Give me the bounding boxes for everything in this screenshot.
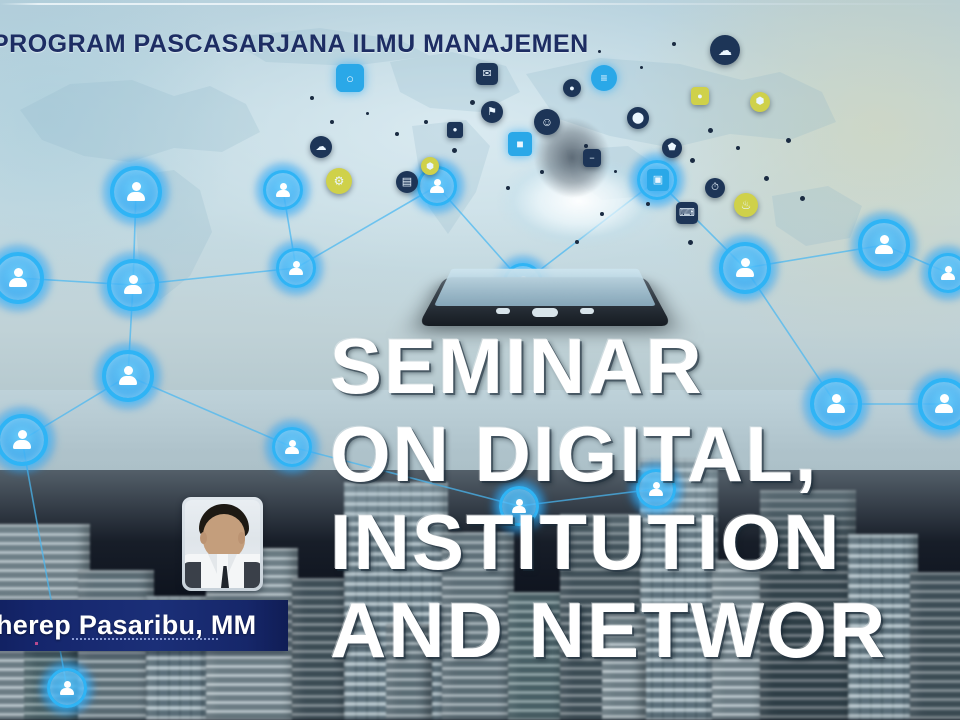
slide-stage: ○☁▤⬢⚙✉⚑■☺●−≡⬤⬟▣⌨⏱♨☁⬢●● PROGRAM PASCASARJ… xyxy=(0,0,960,720)
document-icon: ▤ xyxy=(396,171,418,193)
title-line-2: ON DIGITAL, xyxy=(330,410,960,498)
keyboard-icon: ⌨ xyxy=(676,202,698,224)
floating-speck xyxy=(736,146,740,150)
tablet-buttons xyxy=(418,308,672,318)
name-underline xyxy=(72,638,220,640)
user-node-icon xyxy=(0,252,44,304)
name-marker-dot xyxy=(35,642,38,645)
floating-speck xyxy=(688,240,693,245)
speaker-name-banner: herep Pasaribu, MM xyxy=(0,600,288,651)
cloud-large-icon: ☁ xyxy=(710,35,740,65)
cloud-icon: ☁ xyxy=(310,136,332,158)
user-node-icon xyxy=(858,219,910,271)
floating-speck xyxy=(584,144,588,148)
seminar-title: SEMINAR ON DIGITAL, INSTITUTION AND NETW… xyxy=(330,322,960,674)
program-header: PROGRAM PASCASARJANA ILMU MANAJEMEN xyxy=(0,30,589,59)
floating-speck xyxy=(690,158,695,163)
floating-speck xyxy=(646,202,650,206)
dot-icon: ● xyxy=(563,79,581,97)
avatar-photo xyxy=(185,500,260,588)
user-node-icon xyxy=(719,242,771,294)
user-node-icon xyxy=(272,427,312,467)
hex-badge-icon: ⬢ xyxy=(421,157,439,175)
floating-speck xyxy=(672,42,676,46)
floating-speck xyxy=(366,112,369,115)
circle-outline-icon: ○ xyxy=(336,64,364,92)
floating-speck xyxy=(764,176,769,181)
user-node-icon xyxy=(47,668,87,708)
clock-icon: ⏱ xyxy=(705,178,725,198)
tablet-device xyxy=(418,226,672,326)
title-line-3: INSTITUTION xyxy=(330,498,960,586)
floating-speck xyxy=(540,170,544,174)
floating-speck xyxy=(470,100,475,105)
hex-icon: ⬟ xyxy=(662,138,682,158)
user-node-icon xyxy=(0,414,48,466)
floating-speck xyxy=(708,128,713,133)
minus-icon: − xyxy=(583,149,601,167)
dot-yellow-icon: ● xyxy=(691,87,709,105)
circle-icon: ⬤ xyxy=(627,107,649,129)
panel-icon: ▣ xyxy=(647,169,669,191)
floating-speck xyxy=(598,50,601,53)
title-line-1: SEMINAR xyxy=(330,322,960,410)
floating-speck xyxy=(452,148,457,153)
user-badge-icon: ☺ xyxy=(534,109,560,135)
square-tile-icon: ■ xyxy=(508,132,532,156)
gear-icon: ⚙ xyxy=(326,168,352,194)
floating-speck xyxy=(640,66,643,69)
floating-speck xyxy=(600,212,604,216)
user-node-icon xyxy=(110,166,162,218)
user-node-icon xyxy=(263,170,303,210)
hex-small-icon: ⬢ xyxy=(750,92,770,112)
user-node-icon xyxy=(102,350,154,402)
dot-navy-icon: ● xyxy=(447,122,463,138)
user-node-icon xyxy=(276,248,316,288)
bulb-icon: ♨ xyxy=(734,193,758,217)
floating-speck xyxy=(800,196,805,201)
list-icon: ≡ xyxy=(591,65,617,91)
speaker-name-text: herep Pasaribu, MM xyxy=(0,610,256,641)
slide-top-edge xyxy=(0,3,960,5)
floating-speck xyxy=(424,120,428,124)
user-node-icon xyxy=(107,259,159,311)
floating-speck xyxy=(506,186,510,190)
floating-speck xyxy=(310,96,314,100)
flag-icon: ⚑ xyxy=(481,101,503,123)
mail-icon: ✉ xyxy=(476,63,498,85)
floating-speck xyxy=(395,132,399,136)
floating-speck xyxy=(614,170,617,173)
title-line-4: AND NETWOR xyxy=(330,586,960,674)
user-node-icon xyxy=(928,253,960,293)
floating-speck xyxy=(786,138,791,143)
speaker-avatar xyxy=(182,497,263,591)
floating-speck xyxy=(330,120,334,124)
